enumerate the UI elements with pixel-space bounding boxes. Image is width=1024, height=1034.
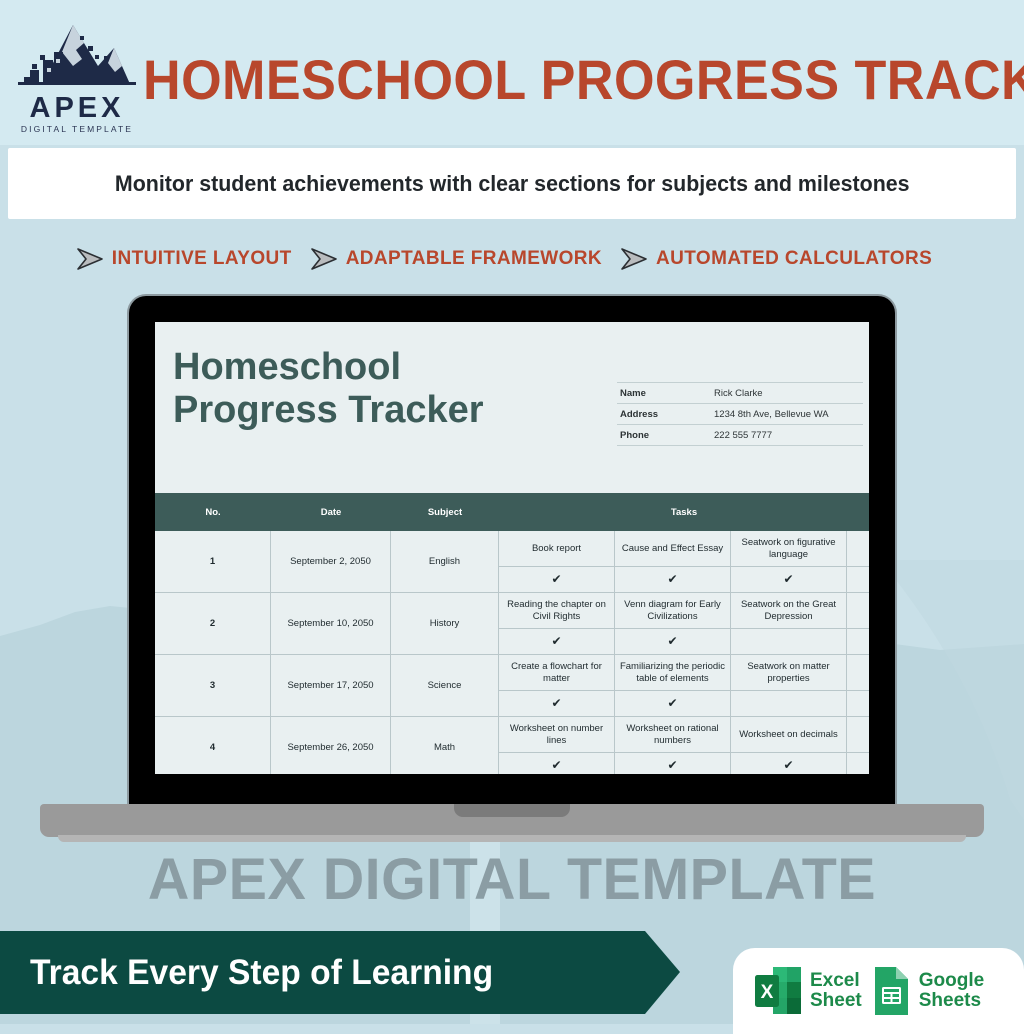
task-check-group: ✔ ✔ (499, 629, 869, 654)
spreadsheet: Homeschool Progress Tracker Name Rick Cl… (155, 322, 869, 774)
spreadsheet-title-line2: Progress Tracker (173, 389, 484, 431)
info-value-address[interactable]: 1234 8th Ave, Bellevue WA (711, 404, 863, 425)
logo-wordmark: APEX (18, 94, 136, 123)
cell-no: 4 (155, 717, 271, 774)
task-name: Worksheet on number lines (499, 717, 615, 752)
chevron-right-icon (619, 246, 649, 272)
mountain-buildings-icon (18, 22, 136, 94)
task-check-group: ✔ ✔ (499, 691, 869, 716)
column-header-date: Date (271, 493, 391, 531)
laptop-screen: Homeschool Progress Tracker Name Rick Cl… (155, 322, 869, 774)
feature-label-2: AUTOMATED CALCULATORS (656, 248, 932, 270)
subtitle-bar: Monitor student achievements with clear … (8, 148, 1016, 219)
info-value-phone[interactable]: 222 555 7777 (711, 425, 863, 446)
cell-no: 2 (155, 593, 271, 654)
task-checkbox[interactable]: ✔ (615, 629, 731, 654)
google-sheets-icon (870, 965, 912, 1017)
table-row[interactable]: 3 September 17, 2050 Science Create a fl… (155, 655, 869, 717)
chevron-right-icon (75, 246, 105, 272)
bottom-banner: Track Every Step of Learning (0, 931, 700, 1014)
badge-google-sheets[interactable]: Google Sheets (870, 965, 984, 1017)
task-checkbox[interactable] (847, 691, 869, 716)
feature-label-1: ADAPTABLE FRAMEWORK (346, 248, 602, 270)
task-check-group: ✔ ✔ ✔ (499, 753, 869, 774)
table-row[interactable]: 1 September 2, 2050 English Book report … (155, 531, 869, 593)
task-checkbox[interactable] (847, 753, 869, 774)
task-checkbox[interactable] (847, 567, 869, 592)
badge-excel[interactable]: X Excel Sheet (753, 965, 862, 1017)
apex-logo: APEX DIGITAL TEMPLATE (18, 22, 136, 132)
feature-label-0: INTUITIVE LAYOUT (112, 248, 292, 270)
table-header-row: No. Date Subject Tasks (155, 493, 869, 531)
task-checkbox[interactable]: ✔ (615, 567, 731, 592)
column-header-subject: Subject (391, 493, 499, 531)
badge-google-sheets-label: Google Sheets (919, 971, 984, 1011)
info-label-name: Name (617, 383, 711, 404)
info-row-phone: Phone 222 555 7777 (617, 425, 863, 446)
laptop-trackpad-notch (454, 804, 570, 817)
cell-tasks: Reading the chapter on Civil Rights Venn… (499, 593, 869, 654)
task-checkbox[interactable]: ✔ (499, 567, 615, 592)
task-name-group: Create a flowchart for matter Familiariz… (499, 655, 869, 691)
task-name: Cause and Effect Essay (615, 531, 731, 566)
badge-excel-label: Excel Sheet (810, 971, 862, 1011)
task-name-group: Reading the chapter on Civil Rights Venn… (499, 593, 869, 629)
task-checkbox[interactable]: ✔ (615, 691, 731, 716)
student-info-table: Name Rick Clarke Address 1234 8th Ave, B… (617, 382, 863, 446)
column-header-no: No. (155, 493, 271, 531)
task-name-group: Worksheet on number lines Worksheet on r… (499, 717, 869, 753)
spreadsheet-title: Homeschool Progress Tracker (173, 346, 484, 431)
table-row[interactable]: 2 September 10, 2050 History Reading the… (155, 593, 869, 655)
task-checkbox[interactable]: ✔ (731, 753, 847, 774)
format-badges: X Excel Sheet Google Sheets (733, 948, 1024, 1034)
cell-subject: Science (391, 655, 499, 716)
cell-subject: English (391, 531, 499, 592)
cell-date: September 2, 2050 (271, 531, 391, 592)
laptop-base-shadow (58, 835, 966, 842)
logo-tagline: DIGITAL TEMPLATE (18, 124, 136, 134)
cell-no: 1 (155, 531, 271, 592)
task-check-group: ✔ ✔ ✔ (499, 567, 869, 592)
banner-text: Track Every Step of Learning (30, 931, 493, 1014)
badge-excel-line2: Sheet (810, 990, 862, 1011)
subtitle-text: Monitor student achievements with clear … (115, 171, 910, 197)
info-row-address: Address 1234 8th Ave, Bellevue WA (617, 404, 863, 425)
task-name: Seatwork on figurative language (731, 531, 847, 566)
task-name: Seatwork on the Great Depression (731, 593, 847, 628)
column-header-tasks: Tasks (499, 493, 869, 531)
cell-tasks: Worksheet on number lines Worksheet on r… (499, 717, 869, 774)
watermark-text: APEX DIGITAL TEMPLATE (5, 846, 1019, 913)
cell-tasks: Book report Cause and Effect Essay Seatw… (499, 531, 869, 592)
excel-icon: X (753, 965, 803, 1017)
cell-no: 3 (155, 655, 271, 716)
task-checkbox[interactable]: ✔ (731, 567, 847, 592)
task-name: Venn diagram for Early Civilizations (615, 593, 731, 628)
task-name: Create a flowchart for matter (499, 655, 615, 690)
task-name: Worksheet on decimals (731, 717, 847, 752)
spreadsheet-title-line1: Homeschool (173, 346, 401, 388)
cell-subject: History (391, 593, 499, 654)
task-name: Familiarizing the periodic table of elem… (615, 655, 731, 690)
chevron-right-icon (309, 246, 339, 272)
badge-excel-line1: Excel (810, 970, 860, 991)
task-checkbox[interactable] (731, 629, 847, 654)
feature-item-2: AUTOMATED CALCULATORS (619, 246, 949, 272)
feature-list: INTUITIVE LAYOUT ADAPTABLE FRAMEWORK AUT… (0, 238, 1024, 280)
task-name (847, 531, 869, 566)
task-checkbox[interactable]: ✔ (499, 691, 615, 716)
cell-date: September 26, 2050 (271, 717, 391, 774)
table-row[interactable]: 4 September 26, 2050 Math Worksheet on n… (155, 717, 869, 774)
svg-text:X: X (761, 982, 774, 1003)
task-checkbox[interactable]: ✔ (499, 753, 615, 774)
task-checkbox[interactable] (731, 691, 847, 716)
task-name: Book report (499, 531, 615, 566)
badge-gsheets-line2: Sheets (919, 990, 981, 1011)
info-row-name: Name Rick Clarke (617, 383, 863, 404)
info-label-address: Address (617, 404, 711, 425)
cell-date: September 10, 2050 (271, 593, 391, 654)
task-name: Seatwork on matter properties (731, 655, 847, 690)
page-title: HOMESCHOOL PROGRESS TRACKER (143, 52, 1024, 108)
cell-subject: Math (391, 717, 499, 774)
cell-tasks: Create a flowchart for matter Familiariz… (499, 655, 869, 716)
feature-item-0: INTUITIVE LAYOUT (75, 246, 309, 272)
task-name: W (847, 717, 869, 752)
feature-item-1: ADAPTABLE FRAMEWORK (309, 246, 619, 272)
task-name: Reading the chapter on Civil Rights (499, 593, 615, 628)
progress-table: No. Date Subject Tasks 1 September 2, 20… (155, 493, 869, 774)
task-checkbox[interactable]: ✔ (615, 753, 731, 774)
info-label-phone: Phone (617, 425, 711, 446)
cell-date: September 17, 2050 (271, 655, 391, 716)
task-checkbox[interactable]: ✔ (499, 629, 615, 654)
task-name-group: Book report Cause and Effect Essay Seatw… (499, 531, 869, 567)
badge-gsheets-line1: Google (919, 970, 984, 991)
laptop-mockup: Homeschool Progress Tracker Name Rick Cl… (0, 296, 1024, 836)
task-name: Worksheet on rational numbers (615, 717, 731, 752)
task-name (847, 655, 869, 690)
task-name (847, 593, 869, 628)
task-checkbox[interactable] (847, 629, 869, 654)
info-value-name[interactable]: Rick Clarke (711, 383, 863, 404)
